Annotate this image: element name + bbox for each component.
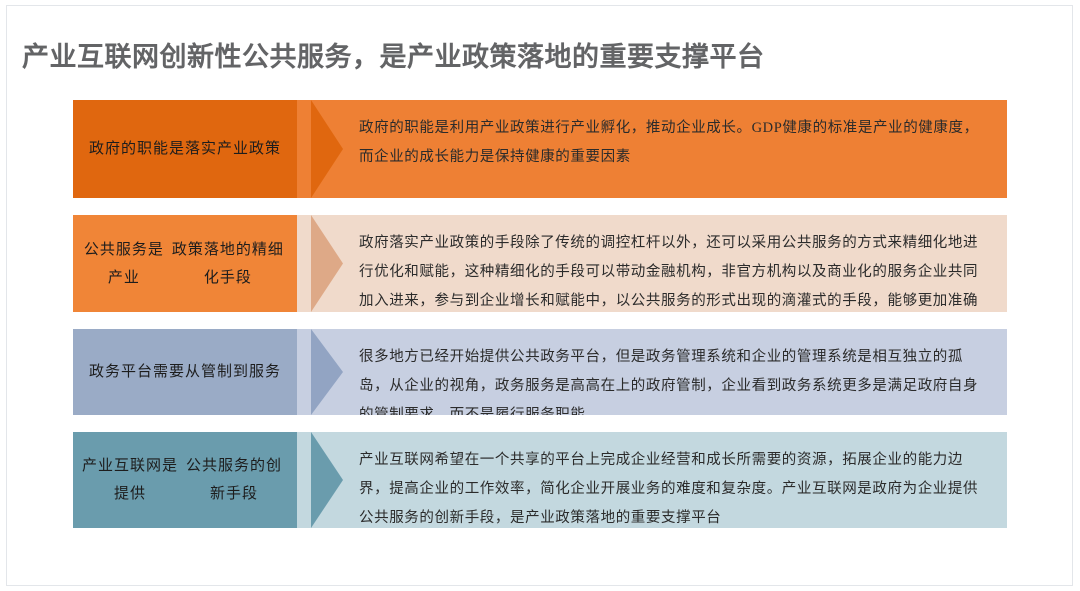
process-row-body-block[interactable]: 政府的职能是利用产业政策进行产业孵化，推动企业成长。GDP健康的标准是产业的健康… xyxy=(297,100,1007,198)
process-row: 政务平台需要 从管制到服务 很多地方已经开始提供公共政务平台，但是政务管理系统和… xyxy=(73,329,1007,415)
process-row-body-text: 政府落实产业政策的手段除了传统的调控杠杆以外，还可以采用公共服务的方式来精细化地… xyxy=(359,229,993,312)
process-row: 产业互联网是提供 公共服务的创新手段 产业互联网希望在一个共享的平台上完成企业经… xyxy=(73,432,1007,528)
process-row-body-text: 很多地方已经开始提供公共政务平台，但是政务管理系统和企业的管理系统是相互独立的孤… xyxy=(359,343,993,415)
process-row-label-line1: 政务平台需要 xyxy=(89,358,185,386)
process-row-label-line1: 产业互联网是提供 xyxy=(81,452,179,508)
process-row-label-line1: 政府的职能 xyxy=(89,135,169,163)
page-title: 产业互联网创新性公共服务，是产业政策落地的重要支撑平台 xyxy=(22,40,1042,74)
process-row-label-line2: 是落实产业政策 xyxy=(169,135,281,163)
process-row-label-line2: 政策落地的精细化手段 xyxy=(167,236,289,292)
process-row-body-block[interactable]: 很多地方已经开始提供公共政务平台，但是政务管理系统和企业的管理系统是相互独立的孤… xyxy=(297,329,1007,415)
process-row-label-block[interactable]: 政府的职能 是落实产业政策 xyxy=(73,100,297,198)
process-row-body-block[interactable]: 产业互联网希望在一个共享的平台上完成企业经营和成长所需要的资源，拓展企业的能力边… xyxy=(297,432,1007,528)
process-row-label-line2: 从管制到服务 xyxy=(185,358,281,386)
process-rows-container: 政府的职能 是落实产业政策 政府的职能是利用产业政策进行产业孵化，推动企业成长。… xyxy=(73,100,1007,545)
process-row-label-block[interactable]: 公共服务是产业 政策落地的精细化手段 xyxy=(73,215,297,312)
process-row: 公共服务是产业 政策落地的精细化手段 政府落实产业政策的手段除了传统的调控杠杆以… xyxy=(73,215,1007,312)
process-row: 政府的职能 是落实产业政策 政府的职能是利用产业政策进行产业孵化，推动企业成长。… xyxy=(73,100,1007,198)
slide-canvas: 产业互联网创新性公共服务，是产业政策落地的重要支撑平台 政府的职能 是落实产业政… xyxy=(0,0,1080,591)
process-row-body-text: 政府的职能是利用产业政策进行产业孵化，推动企业成长。GDP健康的标准是产业的健康… xyxy=(359,114,993,172)
process-row-label-line2: 公共服务的创新手段 xyxy=(179,452,289,508)
process-row-body-block[interactable]: 政府落实产业政策的手段除了传统的调控杠杆以外，还可以采用公共服务的方式来精细化地… xyxy=(297,215,1007,312)
process-row-label-line1: 公共服务是产业 xyxy=(81,236,167,292)
process-row-label-block[interactable]: 产业互联网是提供 公共服务的创新手段 xyxy=(73,432,297,528)
process-row-label-block[interactable]: 政务平台需要 从管制到服务 xyxy=(73,329,297,415)
process-row-body-text: 产业互联网希望在一个共享的平台上完成企业经营和成长所需要的资源，拓展企业的能力边… xyxy=(359,446,993,528)
